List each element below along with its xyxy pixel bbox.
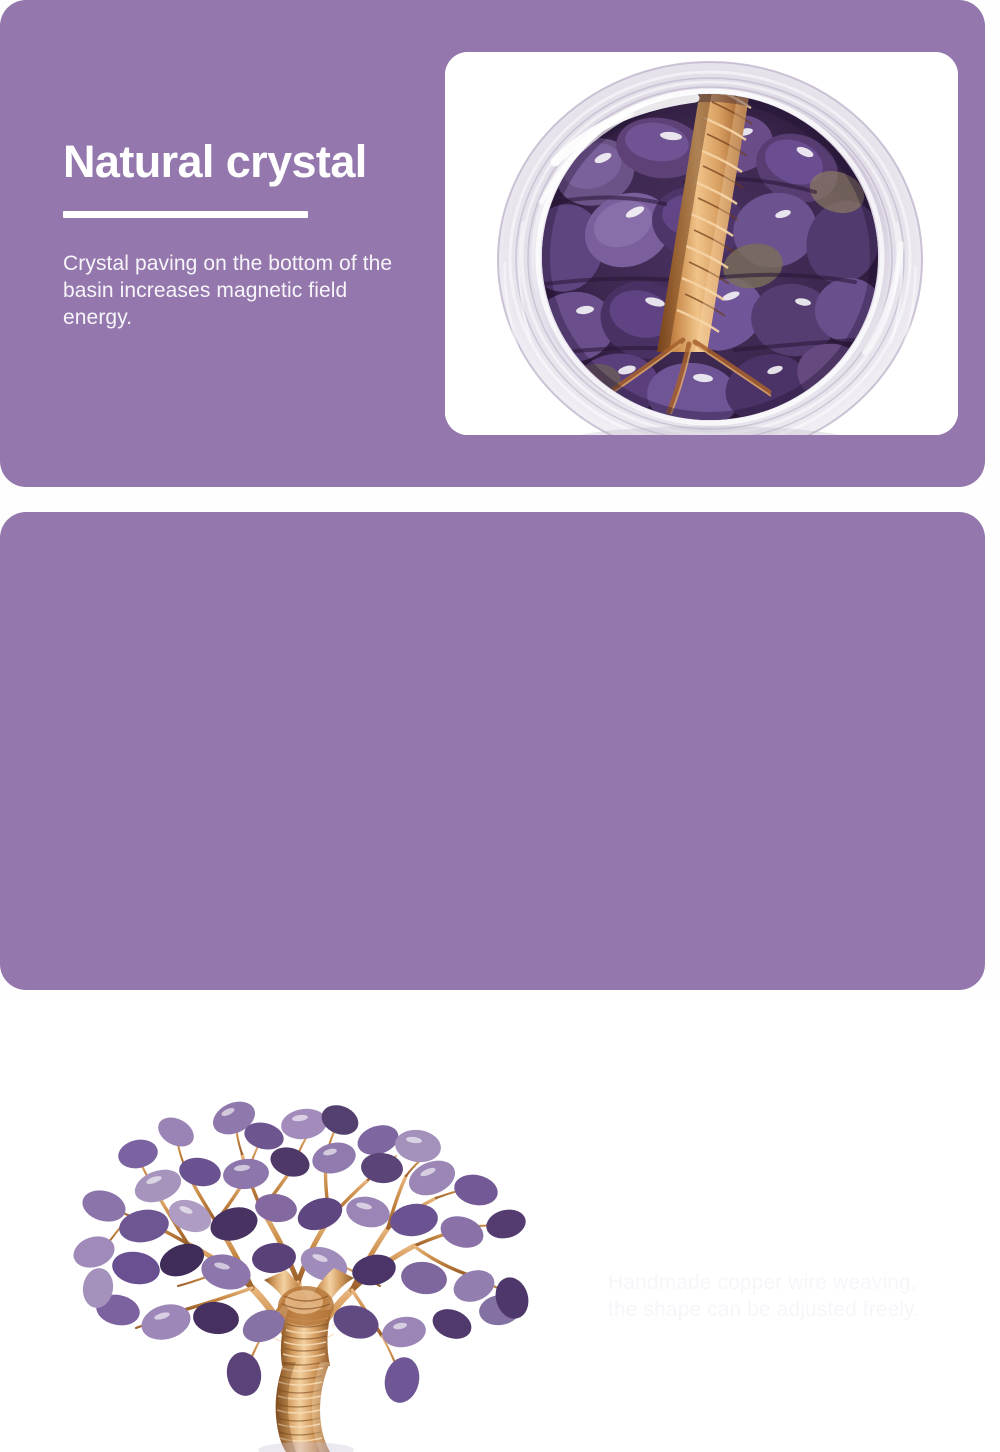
feature-description: Crystal paving on the bottom of the basi… <box>63 250 413 331</box>
title-divider-rule <box>63 211 308 218</box>
amethyst-crystal-bowl-photo <box>445 52 958 435</box>
page-title: Handmade <box>608 1157 948 1204</box>
photo-card-wire-tree <box>38 1074 565 1452</box>
photo-card-crystal-bowl <box>445 52 958 435</box>
copper-wire-amethyst-tree-photo <box>38 1074 565 1452</box>
title-divider-rule <box>608 1230 853 1237</box>
feature-copy-block: Natural crystal Crystal paving on the bo… <box>63 138 413 331</box>
product-feature-graphic: Natural crystal Crystal paving on the bo… <box>0 0 1000 1000</box>
feature-copy-block: Handmade Handmade copper wire weaving, t… <box>608 1157 948 1323</box>
feature-panel-natural-crystal: Natural crystal Crystal paving on the bo… <box>0 0 985 487</box>
feature-panel-handmade: Handmade Handmade copper wire weaving, t… <box>0 512 985 990</box>
feature-description: Handmade copper wire weaving, the shape … <box>608 1269 948 1323</box>
page-title: Natural crystal <box>63 138 413 185</box>
